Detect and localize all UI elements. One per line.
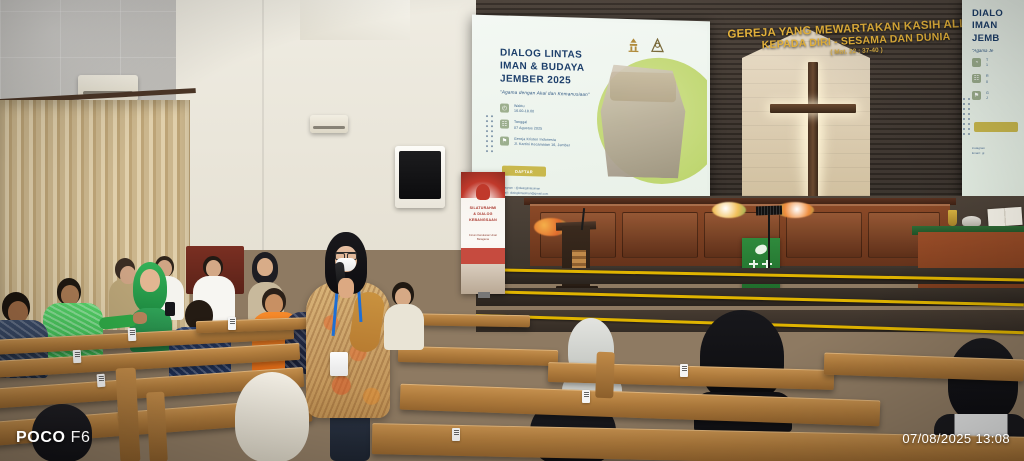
projection-screen: DIALOG LINTAS IMAN & BUDAYA JEMBER 2025 … <box>472 15 710 208</box>
secondary-footer-email: Email : gi <box>972 151 985 156</box>
pew-label-tag <box>128 328 137 341</box>
cross-icon-crossbar <box>770 104 856 113</box>
clock-icon: ◴ <box>500 103 509 112</box>
rollup-banner-stand <box>478 292 490 298</box>
slide-dot-pattern <box>486 115 493 152</box>
secondary-slide-title: DIALO IMAN JEMB <box>972 8 1003 45</box>
clock-icon: ◔ <box>972 58 981 67</box>
face <box>61 285 79 305</box>
open-bible <box>987 207 1022 227</box>
rollup-subtitle: Forum Kerukunan Umat Beragama <box>464 234 502 242</box>
slide-row-time-value: 16.00-18.00 <box>514 109 534 114</box>
pew-back <box>400 384 881 427</box>
slide-title: DIALOG LINTAS IMAN & BUDAYA JEMBER 2025 <box>500 47 584 88</box>
ceiling-slope <box>300 0 410 40</box>
calendar-icon: ☷ <box>972 74 981 83</box>
slide-detail-rows: ◴ Waktu 16.00-18.00 ☷ Tanggal 07 Agustus… <box>500 103 570 154</box>
rollup-logo-icon <box>476 184 490 200</box>
secondary-slide-rows: ◔T1 ☷R0 ⚑GJ <box>972 58 989 107</box>
rollup-group-photo <box>461 264 505 294</box>
rollup-title-line-1: SILATURAHMI <box>464 206 502 212</box>
secondary-row-1-text: T1 <box>986 58 988 68</box>
slide-row-time: ◴ Waktu 16.00-18.00 <box>500 103 570 115</box>
name-badge <box>330 352 348 376</box>
wall-speaker <box>395 146 445 208</box>
rollup-title-line-3: KEBANGSAAN <box>464 218 502 224</box>
face <box>140 269 160 292</box>
secondary-title-line-3: JEMB <box>972 33 1003 45</box>
wainscot-panel <box>786 212 862 258</box>
rollup-title: SILATURAHMI & DIALOG KEBANGSAAN <box>464 206 502 223</box>
location-icon: ⚑ <box>500 136 509 145</box>
chalice-icon <box>948 210 957 226</box>
dove-icon <box>754 244 768 255</box>
slide-row-location-value: Jl. Kartini Kecamatan 16, Jember <box>514 142 570 148</box>
secondary-title-line-2: IMAN <box>972 20 1003 32</box>
pew-end-panel <box>146 392 168 461</box>
slide-row-location: ⚑ Gereja Kristen Indonesia Jl. Kartini K… <box>500 136 570 148</box>
slide-logos <box>626 37 665 54</box>
slide-title-line-3: JEMBER 2025 <box>500 73 584 88</box>
pew-label-tag <box>452 428 460 441</box>
pew-label-tag <box>73 350 82 363</box>
ciborium-icon <box>962 216 981 226</box>
organization-logo-icon-2 <box>650 38 665 54</box>
organization-logo-icon <box>626 37 641 53</box>
pew-label-tag <box>97 374 106 388</box>
timestamp-overlay: 07/08/2025 13:08 <box>902 431 1010 446</box>
air-conditioner-icon <box>310 115 348 133</box>
hijab <box>235 372 309 461</box>
secondary-slide-footer: instagram Email : gi <box>972 146 985 156</box>
location-icon: ⚑ <box>972 91 981 100</box>
slide-footer-email: Email : dialoglintasiman@gmail.com <box>500 190 548 196</box>
slide-row-date-text: Tanggal 07 Agustus 2025 <box>514 120 542 131</box>
slide-row-date-label: Tanggal <box>514 120 527 124</box>
secondary-title-line-1: DIALO <box>972 8 1003 20</box>
slide-subtitle: "Agama dengan Akal dan Kemanusiaan" <box>500 89 590 97</box>
watermark-brand: POCO <box>16 429 66 446</box>
secondary-slide-button <box>974 122 1018 132</box>
pew-label-tag <box>228 317 236 330</box>
wall-seam <box>262 0 264 250</box>
calendar-icon: ☷ <box>500 120 509 129</box>
secondary-row-3-text: GJ <box>986 91 989 101</box>
hand <box>133 312 147 324</box>
secondary-row-3: ⚑GJ <box>972 91 989 101</box>
rollup-red-band <box>461 248 505 264</box>
watermark-model: F6 <box>71 429 91 446</box>
secondary-slide-subtitle: "Agama Je <box>972 48 993 53</box>
slide-row-time-text: Waktu 16.00-18.00 <box>514 104 534 115</box>
wainscot-panel <box>622 212 698 258</box>
slide-portrait-photo <box>597 64 689 179</box>
pew-end-panel <box>595 352 615 399</box>
photograph-canvas: GEREJA YANG MEWARTAKAN KASIH ALLAH KEPAD… <box>0 0 1024 461</box>
body <box>384 304 424 350</box>
face <box>265 294 283 314</box>
slide-row-location-text: Gereja Kristen Indonesia Jl. Kartini Kec… <box>514 137 570 149</box>
secondary-row-2: ☷R0 <box>972 74 989 84</box>
face <box>257 258 273 276</box>
slide-row-time-label: Waktu <box>514 104 525 108</box>
phone-icon <box>165 302 175 316</box>
pew-label-tag <box>680 364 688 377</box>
camera-watermark: POCO F6 <box>16 429 90 447</box>
secondary-dot-pattern <box>963 98 970 135</box>
slide-footer: instagram : @dialoglintasiman Email : di… <box>500 185 548 195</box>
rollup-banner: SILATURAHMI & DIALOG KEBANGSAAN Forum Ke… <box>461 172 505 294</box>
pew-label-tag <box>582 390 590 403</box>
secondary-row-1: ◔T1 <box>972 58 989 68</box>
flower-arrangement <box>712 202 746 218</box>
face <box>206 260 221 277</box>
slide-row-date-value: 07 Agustus 2025 <box>514 125 542 130</box>
slide-register-button: DAFTAR <box>502 166 546 177</box>
slide-row-date: ☷ Tanggal 07 Agustus 2025 <box>500 120 570 132</box>
projection-slide: DIALOG LINTAS IMAN & BUDAYA JEMBER 2025 … <box>480 19 707 200</box>
cross-icon <box>808 62 818 212</box>
speaker-hand <box>338 278 354 298</box>
secondary-row-2-text: R0 <box>986 74 989 84</box>
secondary-projection-screen: DIALO IMAN JEMB "Agama Je ◔T1 ☷R0 ⚑GJ in… <box>962 0 1024 196</box>
